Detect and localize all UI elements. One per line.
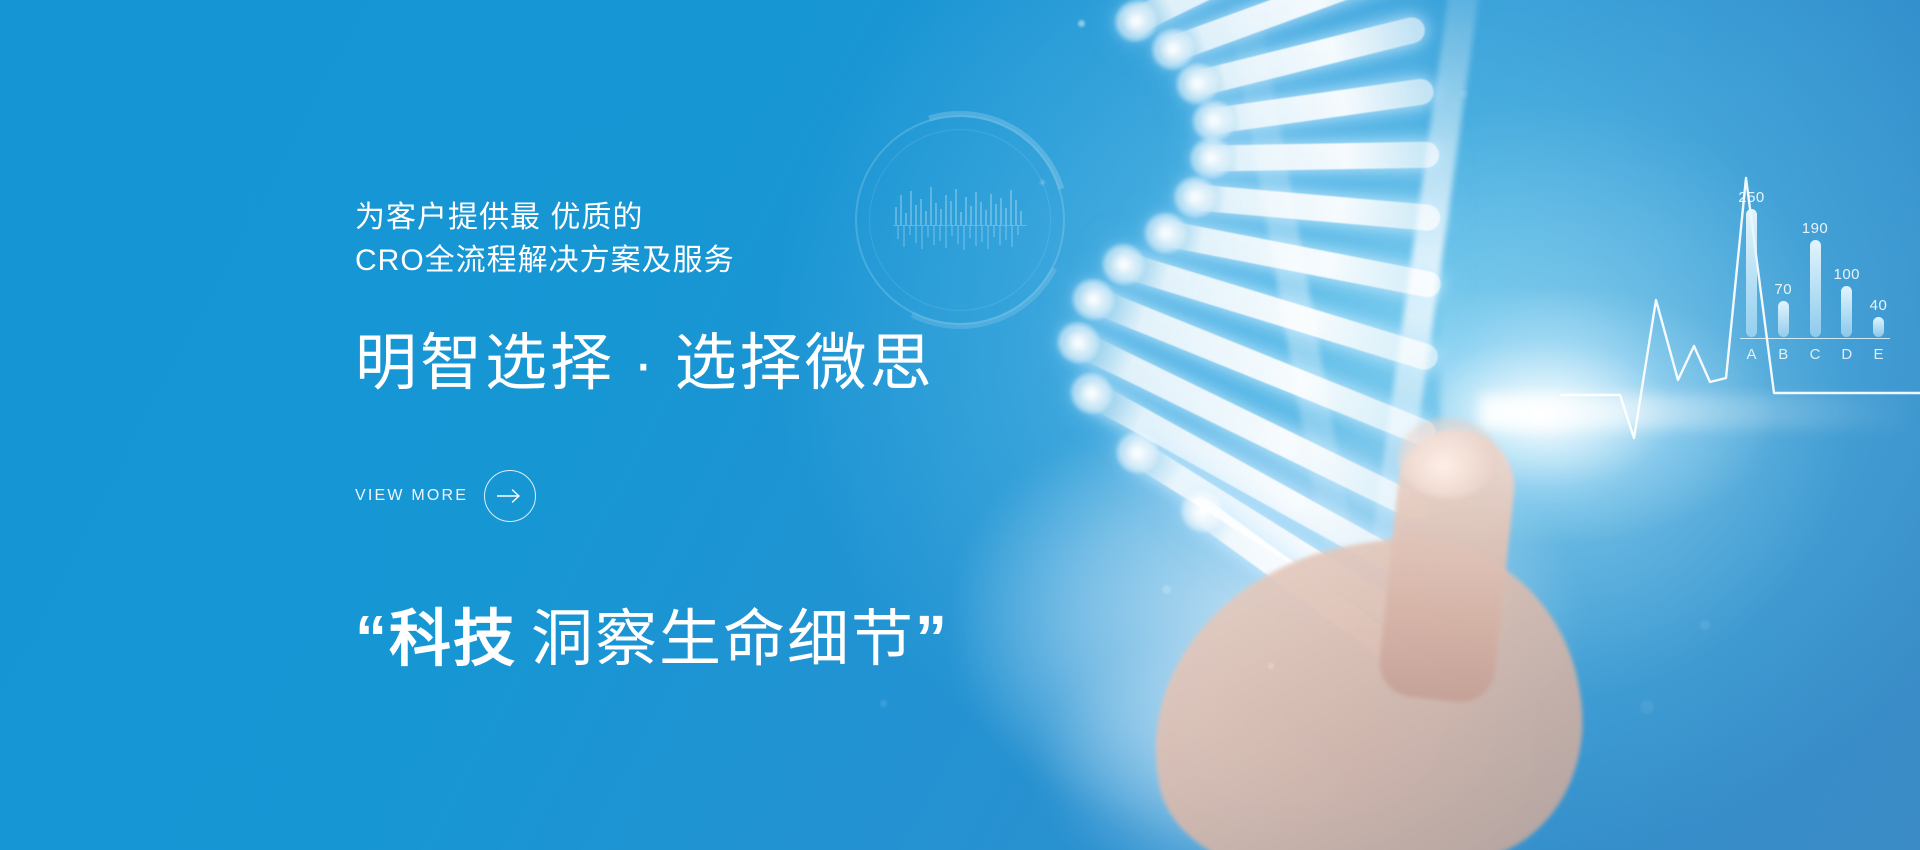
bar-value-c: 190 bbox=[1802, 220, 1829, 237]
tagline-quote: “科技洞察生命细节” bbox=[355, 588, 1135, 678]
bar-label-d: D bbox=[1839, 346, 1854, 363]
bokeh-dot bbox=[1460, 90, 1468, 98]
hand-shape bbox=[1127, 513, 1603, 850]
bokeh-dot bbox=[1700, 620, 1710, 630]
hand-shadow bbox=[1180, 620, 1520, 850]
hero-text-block: 为客户提供最 优质的 CRO全流程解决方案及服务 明智选择·选择微思 VIEW … bbox=[355, 196, 1135, 678]
quote-open-mark: “ bbox=[355, 606, 389, 670]
bar-a: 250 bbox=[1746, 209, 1757, 337]
hero-banner: 250 70 190 100 40 A B C D E 为客户提供最 bbox=[0, 0, 1920, 850]
view-more-button[interactable]: VIEW MORE bbox=[355, 470, 545, 522]
bar-chart: 250 70 190 100 40 A B C D E bbox=[1740, 185, 1890, 365]
bar-value-e: 40 bbox=[1870, 297, 1888, 314]
bokeh-dot bbox=[1640, 700, 1654, 714]
quote-strong-text: 科技 bbox=[389, 588, 517, 678]
bar-b: 70 bbox=[1778, 301, 1789, 337]
quote-close-mark: ” bbox=[915, 606, 949, 670]
bar-d: 100 bbox=[1841, 286, 1852, 337]
bar-chart-category-labels: A B C D E bbox=[1740, 346, 1890, 363]
bar-label-b: B bbox=[1776, 346, 1791, 363]
bar-e: 40 bbox=[1873, 317, 1884, 337]
bokeh-dot bbox=[1040, 180, 1045, 185]
bar-value-b: 70 bbox=[1774, 281, 1792, 298]
bar-chart-bars: 250 70 190 100 40 bbox=[1740, 209, 1890, 337]
bar-label-a: A bbox=[1744, 346, 1759, 363]
page-title: 明智选择·选择微思 bbox=[355, 312, 1135, 402]
bar-value-d: 100 bbox=[1833, 266, 1860, 283]
bar-chart-axis bbox=[1740, 338, 1890, 340]
headline-separator: · bbox=[615, 329, 675, 398]
finger-tip-highlight bbox=[1398, 418, 1498, 498]
bokeh-dot bbox=[1268, 663, 1274, 669]
bar-label-e: E bbox=[1871, 346, 1886, 363]
bar-value-a: 250 bbox=[1738, 189, 1765, 206]
quote-light-text: 洞察生命细节 bbox=[517, 588, 915, 678]
arrow-right-icon[interactable] bbox=[484, 470, 536, 522]
bar-c: 190 bbox=[1810, 240, 1821, 337]
view-more-label: VIEW MORE bbox=[355, 487, 468, 505]
index-finger-shape bbox=[1376, 425, 1520, 706]
bokeh-dot bbox=[880, 700, 887, 707]
subtitle-line-2: CRO全流程解决方案及服务 bbox=[355, 239, 1135, 282]
bar-label-c: C bbox=[1808, 346, 1823, 363]
subtitle-line-1: 为客户提供最 优质的 bbox=[355, 196, 1135, 239]
ecg-waveform-icon bbox=[1560, 150, 1920, 470]
helix-glow-streak bbox=[1480, 395, 1920, 429]
bokeh-dot bbox=[1078, 20, 1085, 27]
headline-right: 选择微思 bbox=[675, 329, 935, 398]
headline-left: 明智选择 bbox=[355, 329, 615, 398]
bokeh-dot bbox=[1162, 585, 1171, 594]
helix-glow-core bbox=[1440, 290, 1770, 540]
